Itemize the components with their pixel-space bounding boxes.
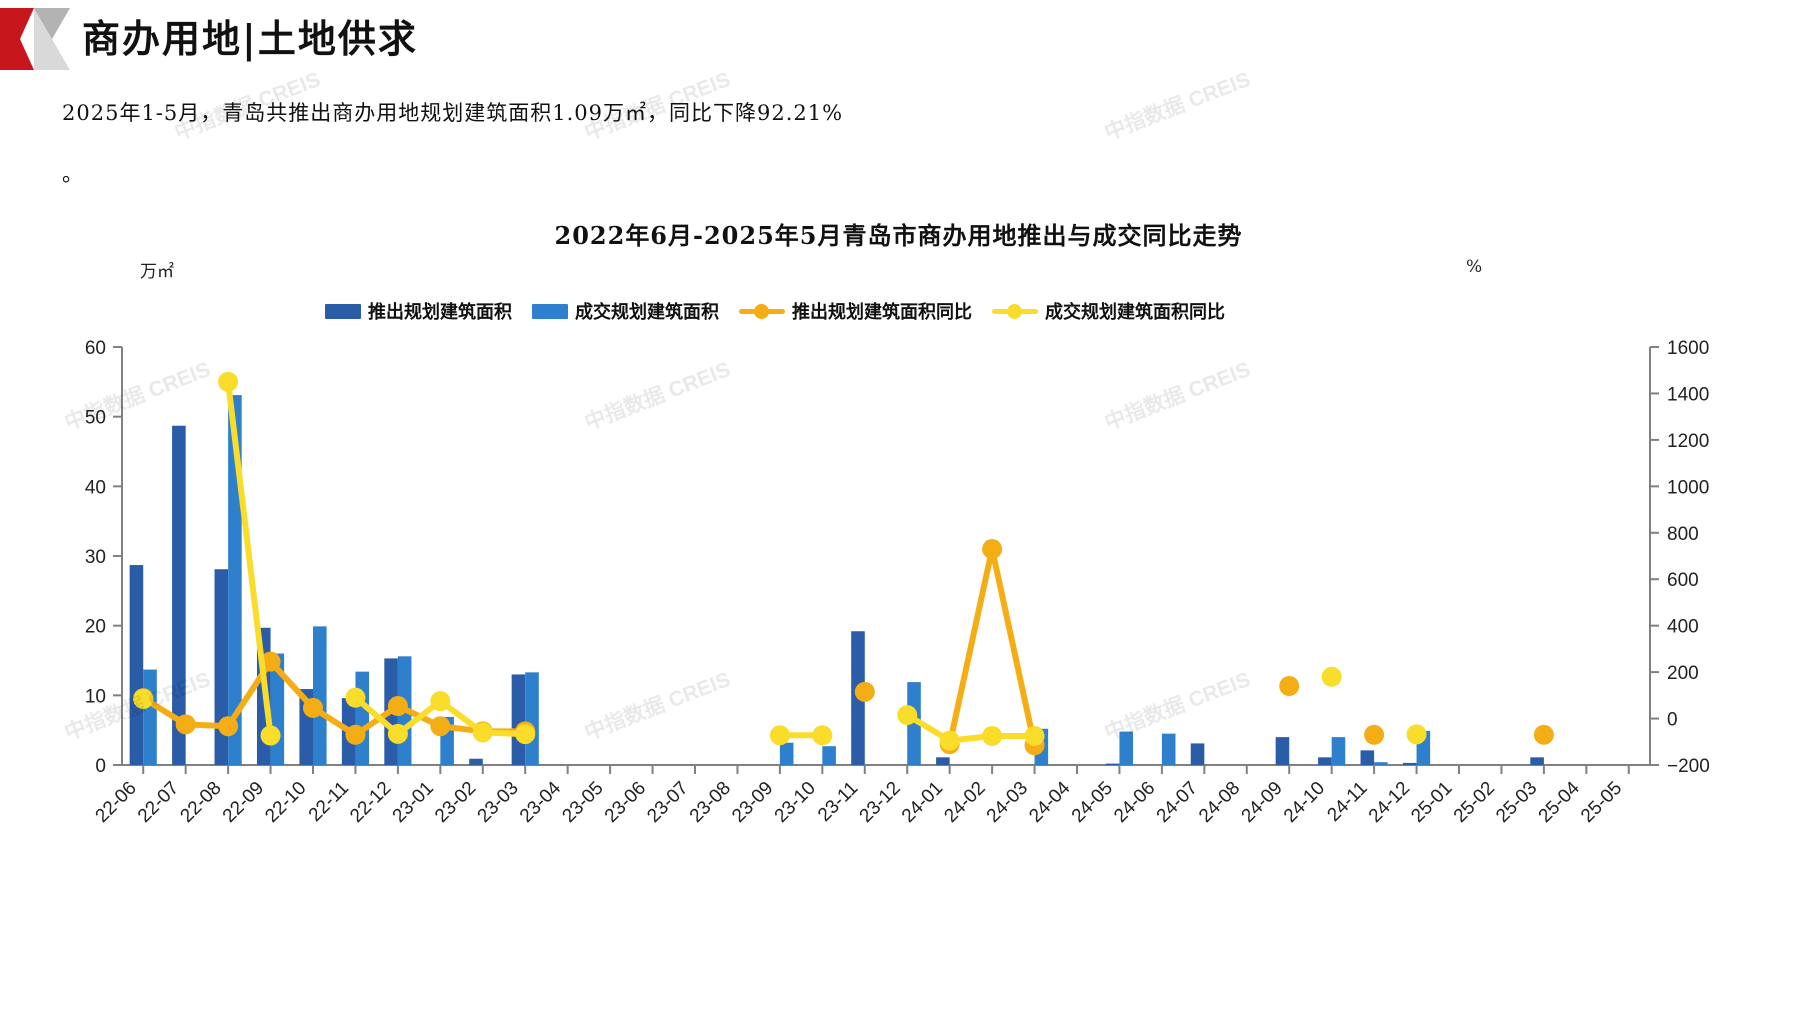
x-axis-tick-labels: 22-0622-0722-0822-0922-1022-1122-1223-01…: [92, 777, 1627, 827]
bar: [313, 626, 327, 765]
bar: [1332, 737, 1346, 765]
bar: [1361, 750, 1375, 765]
y-axis-tick-label: 40: [85, 477, 106, 498]
x-axis-tick-label: 23-06: [601, 778, 650, 827]
x-axis-tick-label: 24-06: [1110, 778, 1159, 827]
x-axis-tick-label: 25-03: [1492, 778, 1541, 827]
x-axis-tick-label: 25-02: [1450, 778, 1499, 827]
x-axis-tick-label: 23-03: [474, 778, 523, 827]
bar: [1162, 734, 1176, 765]
y-axis-tick-label: 30: [85, 547, 106, 568]
bar: [355, 672, 369, 765]
x-axis-tick-label: 24-01: [898, 778, 947, 827]
line-marker: [770, 725, 790, 745]
bar: [1106, 764, 1120, 765]
line-marker: [345, 688, 365, 708]
x-axis-tick-label: 24-05: [1068, 778, 1117, 827]
line-marker: [897, 705, 917, 725]
x-axis-tick-label: 23-11: [814, 778, 862, 826]
x-axis-tick-label: 22-07: [134, 778, 183, 827]
y-axis-tick-label: 20: [85, 617, 106, 638]
y2-axis-tick-label: 400: [1667, 617, 1699, 638]
line-marker: [430, 716, 450, 736]
y-axis-tick-label: 0: [95, 756, 106, 777]
bar: [936, 757, 950, 765]
x-axis-tick-label: 22-10: [261, 778, 310, 827]
line-marker: [940, 731, 960, 751]
x-axis-tick-label: 23-02: [431, 778, 480, 827]
line-marker: [1322, 667, 1342, 687]
y2-axis-tick-label: 1400: [1667, 384, 1709, 405]
y2-axis-tick-labels: −20002004006008001000120014001600: [1667, 338, 1710, 777]
x-axis-tick-label: 24-03: [983, 778, 1032, 827]
bar: [130, 565, 144, 765]
bar: [143, 670, 157, 765]
line-marker: [176, 714, 196, 734]
x-axis-tick-label: 23-12: [856, 778, 905, 827]
line-marker: [218, 716, 238, 736]
x-axis-tick-label: 24-02: [940, 778, 989, 827]
line-marker: [345, 725, 365, 745]
line-marker: [1534, 725, 1554, 745]
line-marker: [473, 722, 493, 742]
x-axis-tick-label: 25-01: [1407, 778, 1456, 827]
line-marker: [855, 682, 875, 702]
y-axis-tick-labels: 0102030405060: [85, 338, 106, 777]
y-axis-tick-label: 10: [85, 686, 106, 707]
x-axis-tick-label: 23-10: [771, 778, 820, 827]
line-marker: [218, 372, 238, 392]
x-axis-tick-label: 22-09: [219, 778, 268, 827]
line-marker: [982, 726, 1002, 746]
y2-axis-tick-label: 0: [1667, 710, 1678, 731]
bar: [469, 759, 483, 765]
x-axis-tick-label: 23-09: [728, 778, 777, 827]
chart-plot-area: 0102030405060 −2000200400600800100012001…: [0, 0, 1797, 1010]
x-axis-tick-label: 22-11: [305, 778, 353, 826]
line-marker: [261, 726, 281, 746]
x-axis-tick-label: 24-12: [1365, 778, 1414, 827]
line-path: [950, 549, 1035, 745]
bar: [1119, 732, 1133, 765]
line-marker: [1025, 726, 1045, 746]
y-axis-tick-label: 60: [85, 338, 106, 359]
bar: [780, 743, 794, 765]
line-path: [907, 715, 1034, 741]
x-axis-tick-label: 22-08: [176, 778, 225, 827]
line-marker: [388, 724, 408, 744]
line-marker: [1407, 724, 1427, 744]
x-axis-tick-label: 24-08: [1195, 778, 1244, 827]
x-axis-tick-label: 22-06: [92, 778, 141, 827]
x-axis-tick-label: 25-04: [1535, 777, 1585, 827]
y2-axis-tick-label: 200: [1667, 663, 1699, 684]
y2-axis-tick-label: 600: [1667, 570, 1699, 591]
chart-lines: [133, 372, 1554, 755]
line-marker: [133, 689, 153, 709]
y2-axis-tick-label: 1600: [1667, 338, 1709, 359]
line-marker: [1279, 676, 1299, 696]
chart-bars: [130, 395, 1544, 765]
bar: [1276, 737, 1290, 765]
bar: [512, 674, 526, 765]
x-axis-tick-label: 22-12: [346, 778, 395, 827]
x-axis-tick-label: 24-09: [1238, 778, 1287, 827]
y-axis-tick-label: 50: [85, 408, 106, 429]
line-marker: [303, 698, 323, 718]
bar: [822, 746, 836, 765]
x-axis-tick-label: 24-07: [1153, 778, 1202, 827]
bar: [1318, 757, 1332, 765]
bar: [1530, 757, 1544, 765]
x-axis-tick-label: 23-07: [643, 778, 692, 827]
x-axis-tick-label: 24-11: [1323, 778, 1371, 826]
y2-axis-tick-label: 1200: [1667, 431, 1709, 452]
x-axis-tick-label: 24-10: [1280, 778, 1329, 827]
bar: [525, 672, 539, 765]
x-axis-tick-label: 23-04: [516, 777, 566, 827]
line-marker: [982, 539, 1002, 559]
x-axis-tick-label: 25-05: [1577, 778, 1626, 827]
x-axis-tick-label: 24-04: [1025, 777, 1075, 827]
x-axis-tick-label: 23-05: [558, 778, 607, 827]
line-marker: [1364, 725, 1384, 745]
y2-axis-tick-label: 800: [1667, 524, 1699, 545]
y2-axis-tick-label: −200: [1667, 756, 1710, 777]
bar: [1191, 743, 1205, 765]
y2-axis-tick-label: 1000: [1667, 477, 1709, 498]
bar: [1374, 762, 1388, 765]
line-marker: [515, 724, 535, 744]
line-marker: [388, 696, 408, 716]
line-marker: [812, 725, 832, 745]
line-marker: [430, 691, 450, 711]
x-axis-tick-label: 23-08: [686, 778, 735, 827]
chart-svg: 0102030405060 −2000200400600800100012001…: [0, 0, 1797, 1010]
x-axis-tick-label: 23-01: [389, 778, 438, 827]
bar: [1403, 763, 1417, 765]
